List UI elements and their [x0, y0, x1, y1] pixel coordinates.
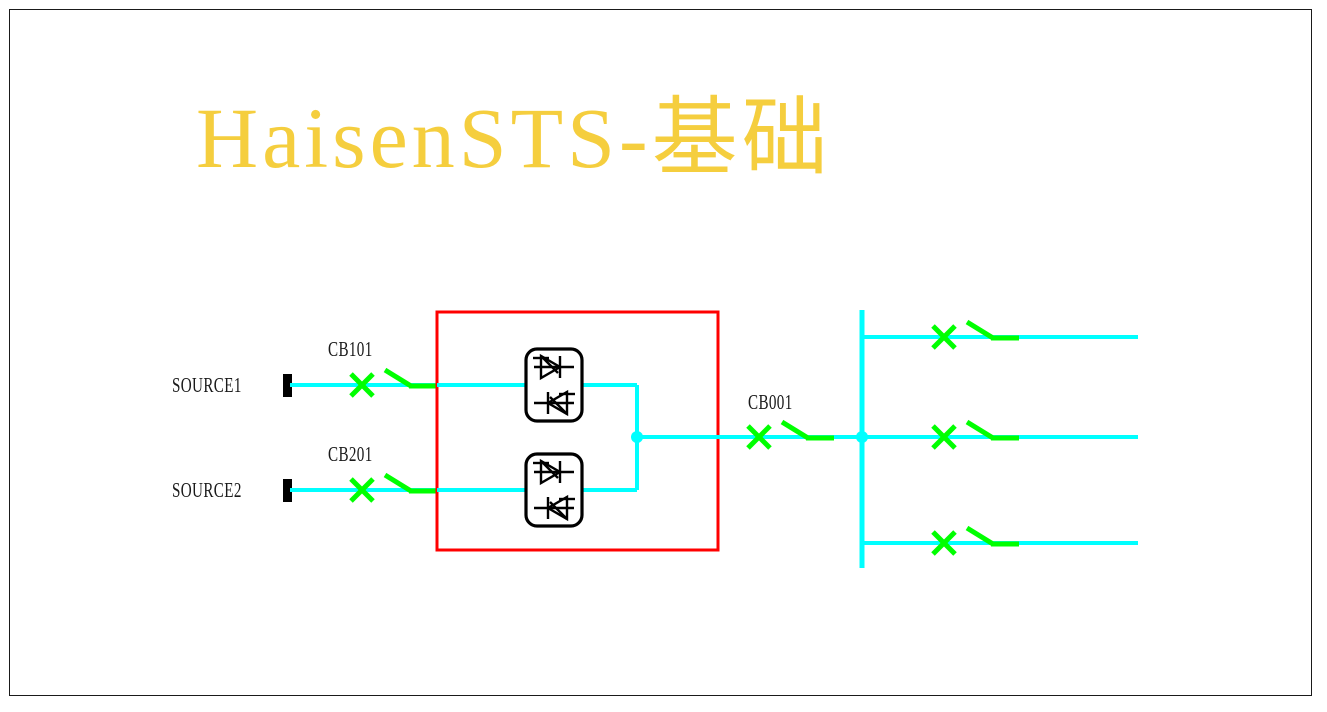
feeder-3: [862, 528, 1138, 554]
source1-branch: [283, 370, 437, 397]
feeder-2: [862, 422, 1138, 448]
sts-tie-junction-dot: [631, 431, 643, 443]
sts-enclosure: [437, 312, 718, 550]
feeder-1: [862, 322, 1138, 348]
scr-module-1[interactable]: [526, 349, 582, 421]
schematic-page: HaisenSTS-基础 SOURCE1 SOURCE2 CB101 CB201…: [0, 0, 1327, 712]
scr-module-2[interactable]: [526, 454, 582, 526]
single-line-diagram: [0, 0, 1327, 712]
output-section: [718, 422, 862, 448]
source2-branch: [283, 475, 437, 502]
